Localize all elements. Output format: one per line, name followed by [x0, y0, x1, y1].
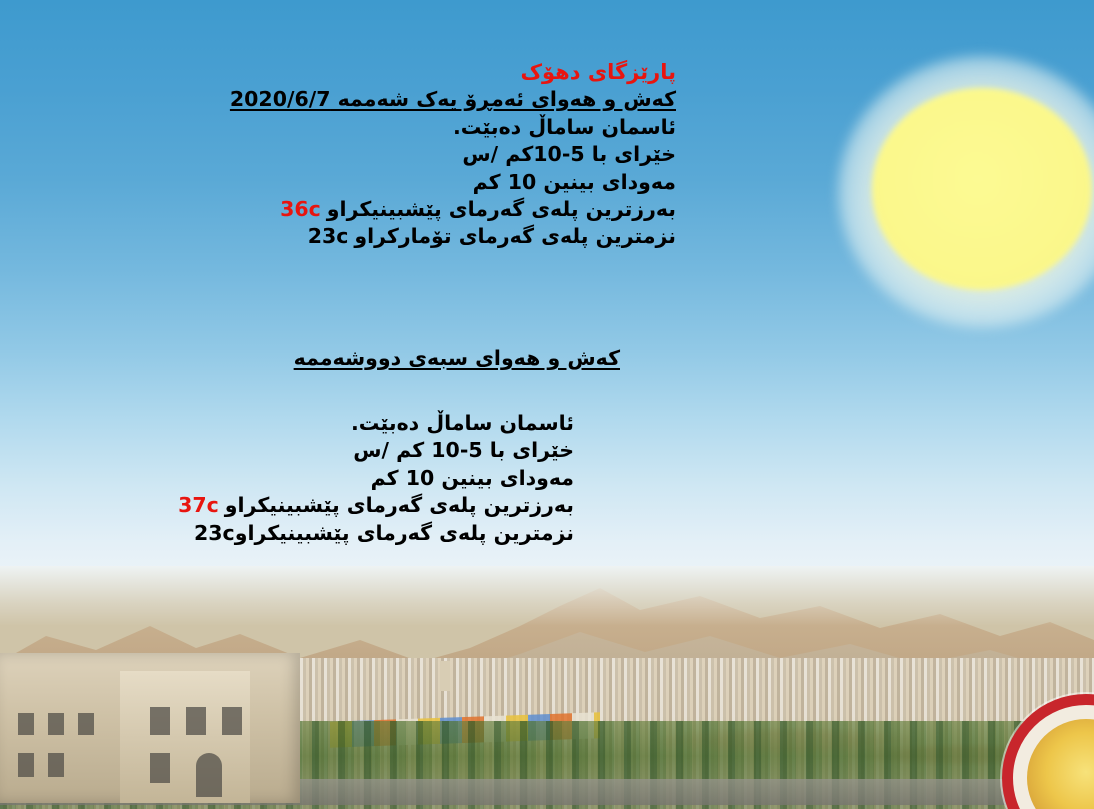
- forecast-text-layer: پارێزگای دهۆک کەش و هەوای ئەمڕۆ یەک شەمم…: [0, 0, 1094, 640]
- today-sky-condition: ئاسمان ساماڵ دەبێت.: [230, 114, 676, 141]
- tomorrow-min-temp-label: نزمترین پلەی گەرمای پێشبینیکراو: [235, 521, 574, 545]
- tomorrow-wind-speed: خێرای با 5-10 کم /س: [178, 437, 574, 464]
- seal-emblem: [1027, 719, 1094, 809]
- tomorrow-max-temp-label: بەرزترین پلەی گەرمای پێشبینیکراو: [225, 493, 574, 517]
- today-min-temp-value: 23c: [308, 224, 355, 248]
- today-forecast-block: پارێزگای دهۆک کەش و هەوای ئەمڕۆ یەک شەمم…: [230, 58, 676, 251]
- tomorrow-visibility: مەودای بینین 10 کم: [178, 465, 574, 492]
- today-max-temp-label: بەرزترین پلەی گەرمای پێشبینیکراو: [327, 197, 676, 221]
- tomorrow-max-temp-line: بەرزترین پلەی گەرمای پێشبینیکراو37c: [178, 492, 574, 519]
- province-title: پارێزگای دهۆک: [230, 58, 676, 86]
- weather-card: پارێزگای دهۆک کەش و هەوای ئەمڕۆ یەک شەمم…: [0, 0, 1094, 809]
- tomorrow-sky-condition: ئاسمان ساماڵ دەبێت.: [178, 410, 574, 437]
- tomorrow-heading: کەش و هەوای سبەی دووشەممە: [294, 345, 620, 372]
- today-min-temp-line: نزمترین پلەی گەرمای تۆمارکراو23c: [230, 223, 676, 250]
- today-visibility: مەودای بینین 10 کم: [230, 169, 676, 196]
- today-max-temp-value: 36c: [280, 197, 327, 221]
- tomorrow-min-temp-line: نزمترین پلەی گەرمای پێشبینیکراو23c: [178, 520, 574, 547]
- foreground-building: [0, 653, 300, 803]
- tomorrow-forecast-block: ئاسمان ساماڵ دەبێت. خێرای با 5-10 کم /س …: [178, 410, 574, 547]
- today-min-temp-label: نزمترین پلەی گەرمای تۆمارکراو: [354, 224, 676, 248]
- today-heading: کەش و هەوای ئەمڕۆ یەک شەممە 2020/6/7: [230, 86, 676, 113]
- today-wind-speed: خێرای با 5-10کم /س: [230, 141, 676, 168]
- tomorrow-min-temp-value: 23c: [194, 521, 235, 545]
- tomorrow-heading-block: کەش و هەوای سبەی دووشەممە: [294, 345, 620, 372]
- today-max-temp-line: بەرزترین پلەی گەرمای پێشبینیکراو36c: [230, 196, 676, 223]
- light-pole: [440, 661, 450, 691]
- tomorrow-max-temp-value: 37c: [178, 493, 225, 517]
